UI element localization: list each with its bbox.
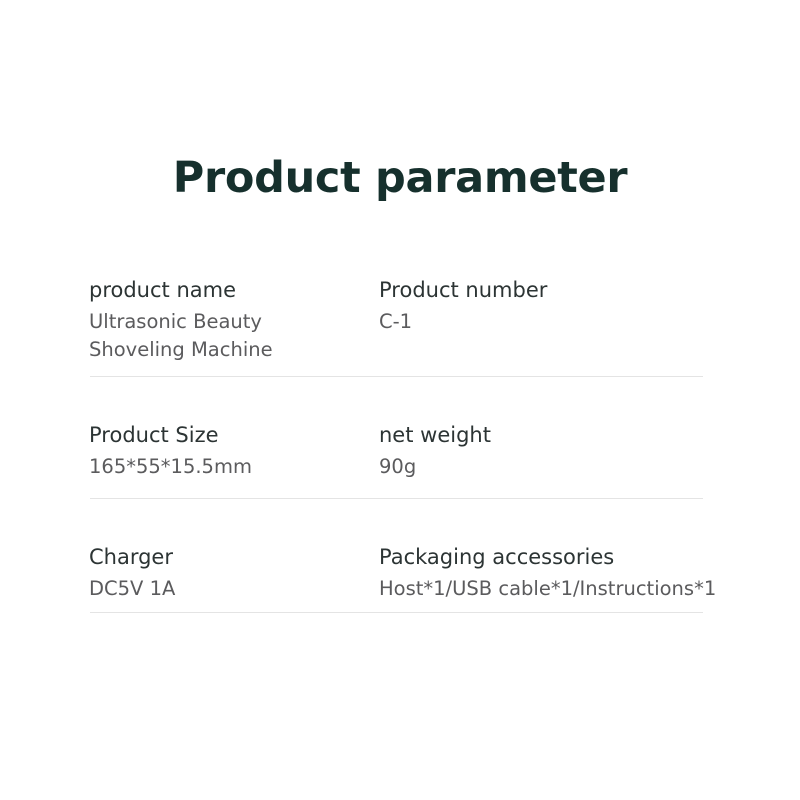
spec-row: Product Size 165*55*15.5mm net weight 90… [89,377,704,499]
spec-value-packaging-accessories: Host*1/USB cable*1/Instructions*1 [379,575,704,603]
spec-value-net-weight: 90g [379,453,704,481]
spec-label-product-size: Product Size [89,421,367,450]
spec-value-product-size: 165*55*15.5mm [89,453,367,481]
specification-table: product name Ultrasonic Beauty Shoveling… [89,276,704,613]
spec-label-charger: Charger [89,543,367,572]
spec-row: Charger DC5V 1A Packaging accessories Ho… [89,499,704,613]
spec-value-product-name: Ultrasonic Beauty Shoveling Machine [89,308,367,364]
spec-cell: product name Ultrasonic Beauty Shoveling… [89,276,379,364]
page-title: Product parameter [0,152,800,204]
spec-value-charger: DC5V 1A [89,575,367,603]
spec-label-packaging-accessories: Packaging accessories [379,543,704,572]
spec-cell: Product Size 165*55*15.5mm [89,421,379,481]
spec-cell: Packaging accessories Host*1/USB cable*1… [379,543,704,603]
spec-value-product-number: C-1 [379,308,704,336]
spec-row: product name Ultrasonic Beauty Shoveling… [89,276,704,377]
spec-label-product-name: product name [89,276,367,305]
spec-cell: Product number C-1 [379,276,704,336]
spec-label-net-weight: net weight [379,421,704,450]
product-parameter-page: Product parameter product name Ultrasoni… [0,0,800,800]
spec-label-product-number: Product number [379,276,704,305]
spec-cell: net weight 90g [379,421,704,481]
spec-cell: Charger DC5V 1A [89,543,379,603]
